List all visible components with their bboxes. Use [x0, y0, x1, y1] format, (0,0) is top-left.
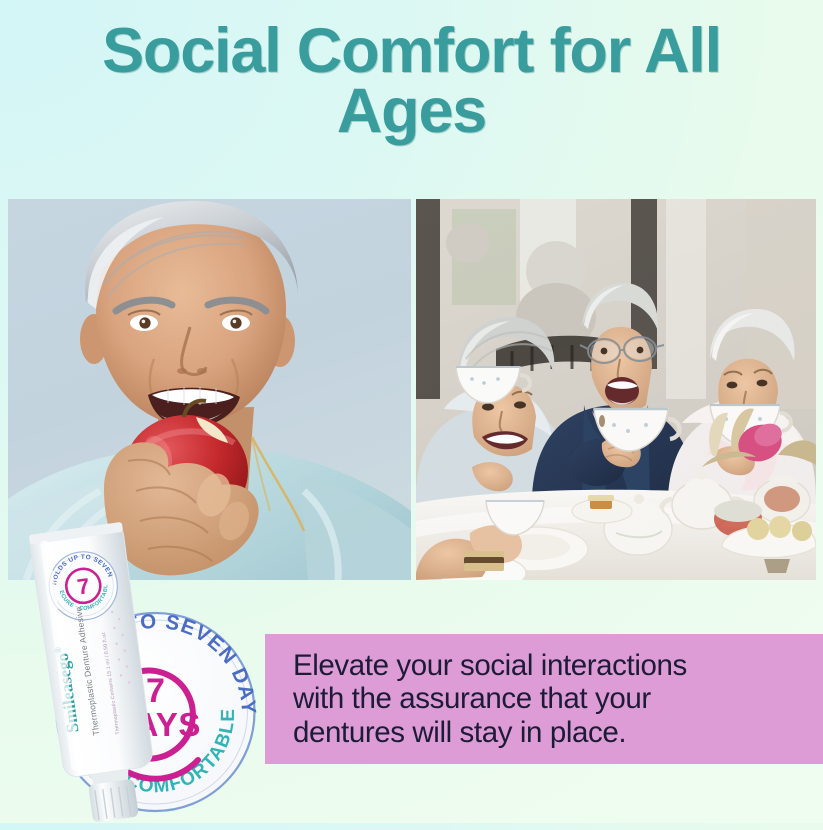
- caption-text: Elevate your social interactions with th…: [265, 649, 699, 748]
- caption-line-3: dentures will stay in place.: [293, 716, 626, 749]
- photo-row: [8, 199, 816, 580]
- page-title-line-2: Ages: [337, 76, 486, 146]
- caption-line-2: with the assurance that your: [293, 682, 651, 715]
- poster-canvas: Social Comfort for AllAges: [0, 0, 823, 823]
- badge-center-number: 7: [146, 672, 165, 710]
- page-title: Social Comfort for AllAges: [0, 22, 823, 142]
- caption-panel: Elevate your social interactions with th…: [265, 634, 823, 764]
- photo-man-eating-apple: [8, 199, 411, 580]
- page-title-text: Social Comfort for AllAges: [32, 22, 791, 142]
- badge-center-unit: DAYS: [110, 706, 201, 743]
- seven-day-guarantee-badge: HOLDS UP TO SEVEN DAYS SECURE·COMFORTABL…: [46, 602, 265, 821]
- photo-seniors-tea-party: [416, 199, 816, 580]
- caption-line-1: Elevate your social interactions: [293, 649, 687, 682]
